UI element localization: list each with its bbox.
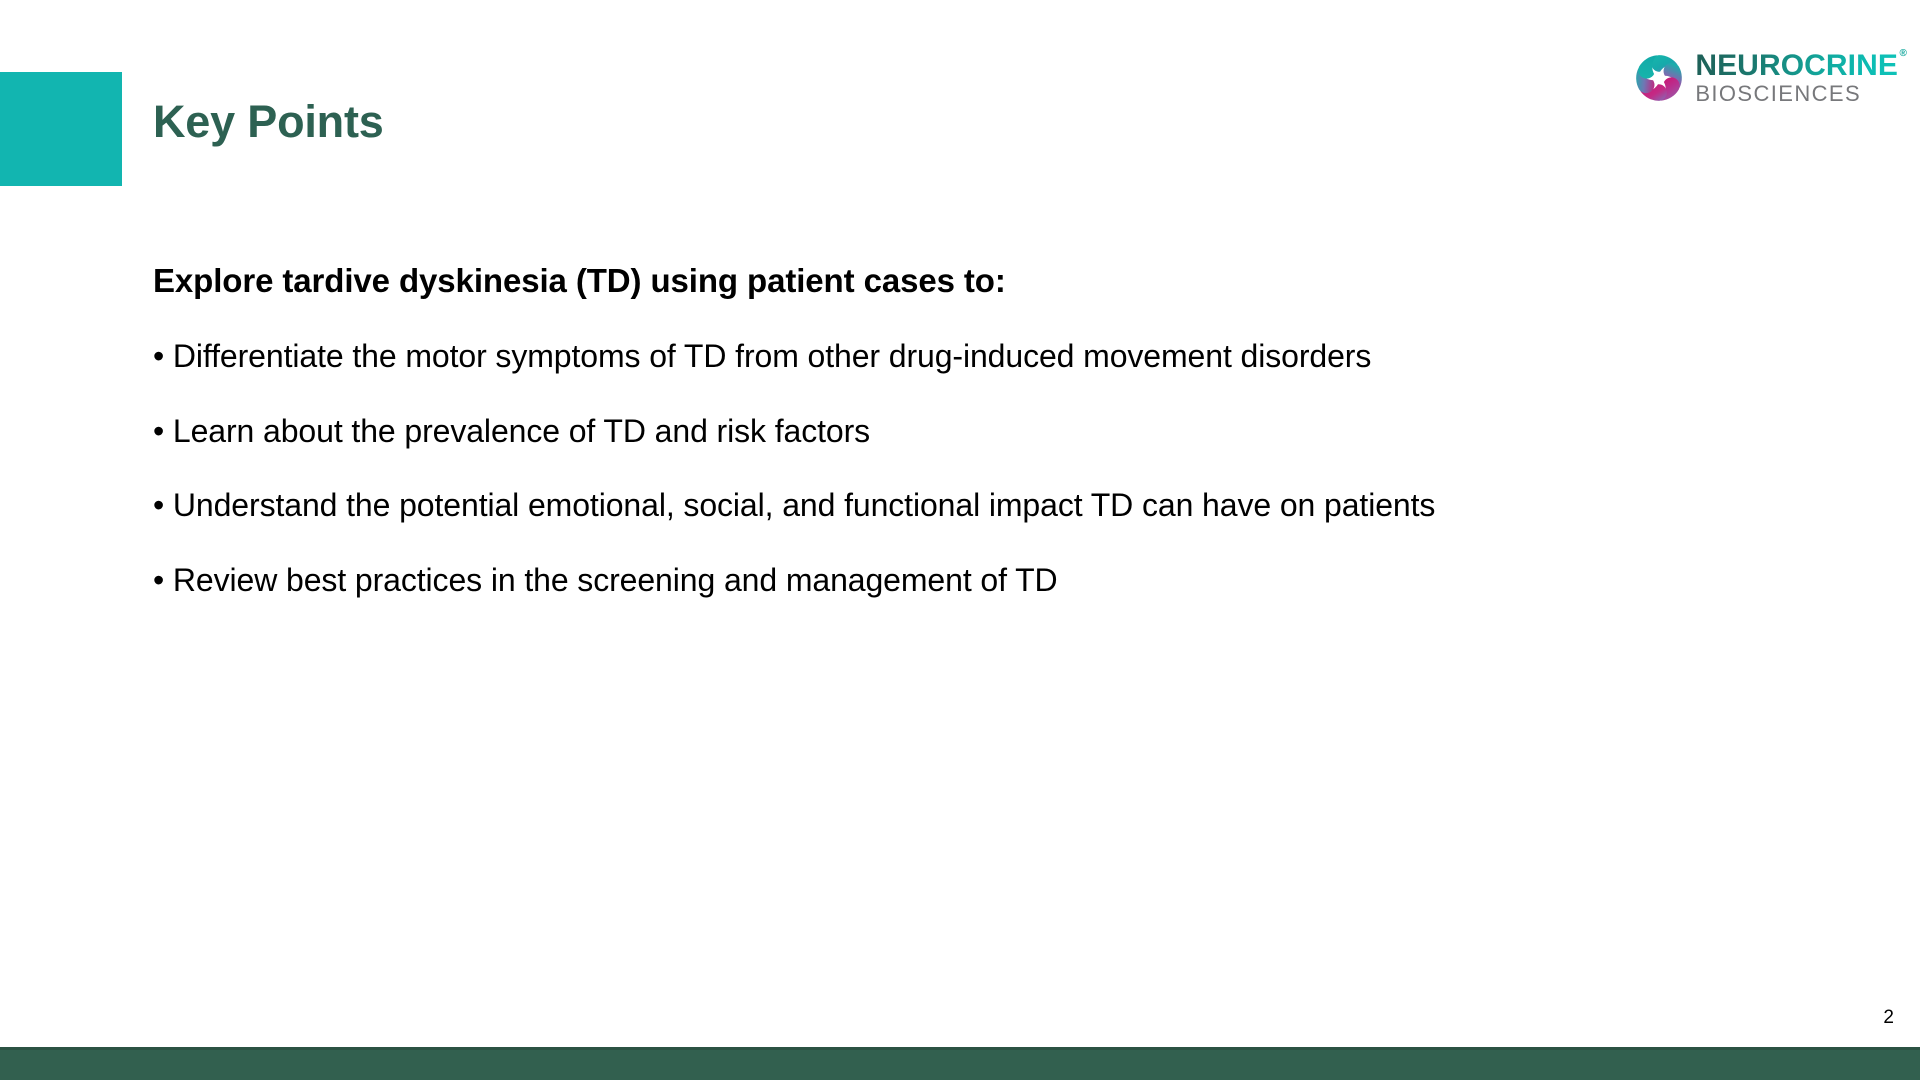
page-number: 2 xyxy=(1883,1008,1894,1027)
logo-subtitle: BIOSCIENCES xyxy=(1695,82,1898,106)
list-item-label: Review best practices in the screening a… xyxy=(173,562,1058,598)
list-item-label: Learn about the prevalence of TD and ris… xyxy=(173,413,870,449)
title-accent-block xyxy=(0,72,122,186)
neurocrine-logo: NEUROCRINE® BIOSCIENCES xyxy=(1633,50,1898,106)
bullet-marker-icon: • xyxy=(153,338,164,374)
slide: Key Points xyxy=(0,0,1920,1080)
footer-bar xyxy=(0,1047,1920,1080)
logo-wordmark: NEUROCRINE® xyxy=(1695,51,1898,81)
list-item: • Understand the potential emotional, so… xyxy=(153,487,1853,525)
list-item-label: Differentiate the motor symptoms of TD f… xyxy=(173,338,1371,374)
bullet-marker-icon: • xyxy=(153,413,164,449)
list-item: • Learn about the prevalence of TD and r… xyxy=(153,413,1853,451)
bullet-marker-icon: • xyxy=(153,487,164,523)
list-item-label: Understand the potential emotional, soci… xyxy=(173,487,1435,523)
key-points-list: • Differentiate the motor symptoms of TD… xyxy=(153,338,1853,600)
list-item: • Review best practices in the screening… xyxy=(153,562,1853,600)
lead-statement: Explore tardive dyskinesia (TD) using pa… xyxy=(153,262,1853,301)
bullet-marker-icon: • xyxy=(153,562,164,598)
logo-text: NEUROCRINE® BIOSCIENCES xyxy=(1695,50,1898,106)
neurocrine-swirl-mark-icon xyxy=(1633,52,1685,104)
logo-wordmark-text: NEUROCRINE xyxy=(1695,49,1898,82)
content-body: Explore tardive dyskinesia (TD) using pa… xyxy=(153,262,1853,600)
registered-trademark-icon: ® xyxy=(1900,49,1907,59)
page-title: Key Points xyxy=(153,97,384,147)
list-item: • Differentiate the motor symptoms of TD… xyxy=(153,338,1853,376)
